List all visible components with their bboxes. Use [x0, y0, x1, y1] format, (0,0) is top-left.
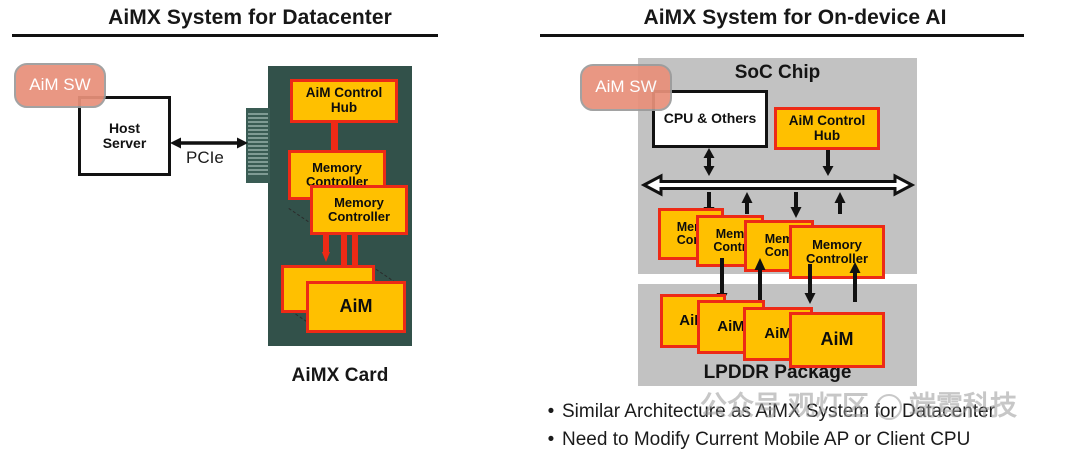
left-title-underline — [12, 34, 438, 37]
control-hub-bus-arrow — [821, 150, 835, 176]
right-aim2-label: AiM — [717, 319, 745, 335]
right-aim-4: AiM — [789, 312, 885, 368]
left-panel-title: AiMX System for Datacenter — [0, 6, 500, 30]
bullet-item: • Need to Modify Current Mobile AP or Cl… — [540, 426, 1080, 454]
left-control-hub-line1: AiM Control — [306, 86, 383, 101]
watermark-badge-icon — [876, 394, 902, 420]
bullet-marker-icon: • — [540, 398, 562, 426]
left-mc-front-line2: Controller — [328, 210, 390, 224]
left-aim-sw-label: AiM SW — [29, 76, 90, 94]
host-server-box: Host Server — [78, 96, 171, 176]
right-mc4-line1: Memory — [812, 238, 862, 252]
watermark-overlay: 公众号 观灯区 端霓科技 — [700, 384, 1017, 423]
right-aim-sw-box: AiM SW — [580, 64, 672, 111]
right-control-hub-line1: AiM Control — [789, 114, 866, 129]
left-aim-sw-box: AiM SW — [14, 63, 106, 108]
right-control-hub-line2: Hub — [814, 129, 840, 144]
host-server-line2: Server — [103, 136, 147, 151]
watermark-right-text: 端霓科技 — [909, 384, 1017, 423]
right-aim4-label: AiM — [821, 330, 854, 349]
right-mc2-line1: Mem — [716, 228, 744, 242]
right-mc2-line2: Contr — [713, 241, 746, 255]
watermark-mid-text: 观灯区 — [788, 384, 869, 423]
left-aim-label: AiM — [340, 297, 373, 316]
cpu-bus-arrow — [702, 148, 716, 176]
right-panel-title: AiMX System for On-device AI — [540, 6, 1050, 30]
right-title-underline — [540, 34, 1024, 37]
right-aim-control-hub: AiM Control Hub — [774, 107, 880, 150]
left-hub-to-mc-link — [331, 123, 338, 150]
left-control-hub-line2: Hub — [331, 101, 357, 116]
pcie-connector — [246, 108, 270, 183]
left-aim-control-hub: AiM Control Hub — [290, 79, 398, 123]
right-aim3-label: AiM — [764, 326, 792, 342]
left-memory-controller-front: Memory Controller — [310, 185, 408, 235]
cpu-and-others-label: CPU & Others — [664, 111, 757, 126]
left-aim-front: AiM — [306, 281, 406, 333]
bullet-text-2: Need to Modify Current Mobile AP or Clie… — [562, 426, 970, 454]
left-mc-front-line1: Memory — [334, 196, 384, 210]
pcie-label: PCIe — [186, 148, 224, 168]
aimx-card-caption: AiMX Card — [238, 365, 442, 387]
left-mc-back-line1: Memory — [312, 161, 362, 175]
bullet-marker-icon: • — [540, 426, 562, 454]
watermark-left-text: 公众号 — [700, 384, 781, 423]
host-server-line1: Host — [109, 121, 140, 136]
right-aim-sw-label: AiM SW — [595, 78, 656, 96]
soc-chip-label: SoC Chip — [638, 62, 917, 84]
left-panel: AiMX System for Datacenter AiM Control H… — [0, 0, 540, 456]
